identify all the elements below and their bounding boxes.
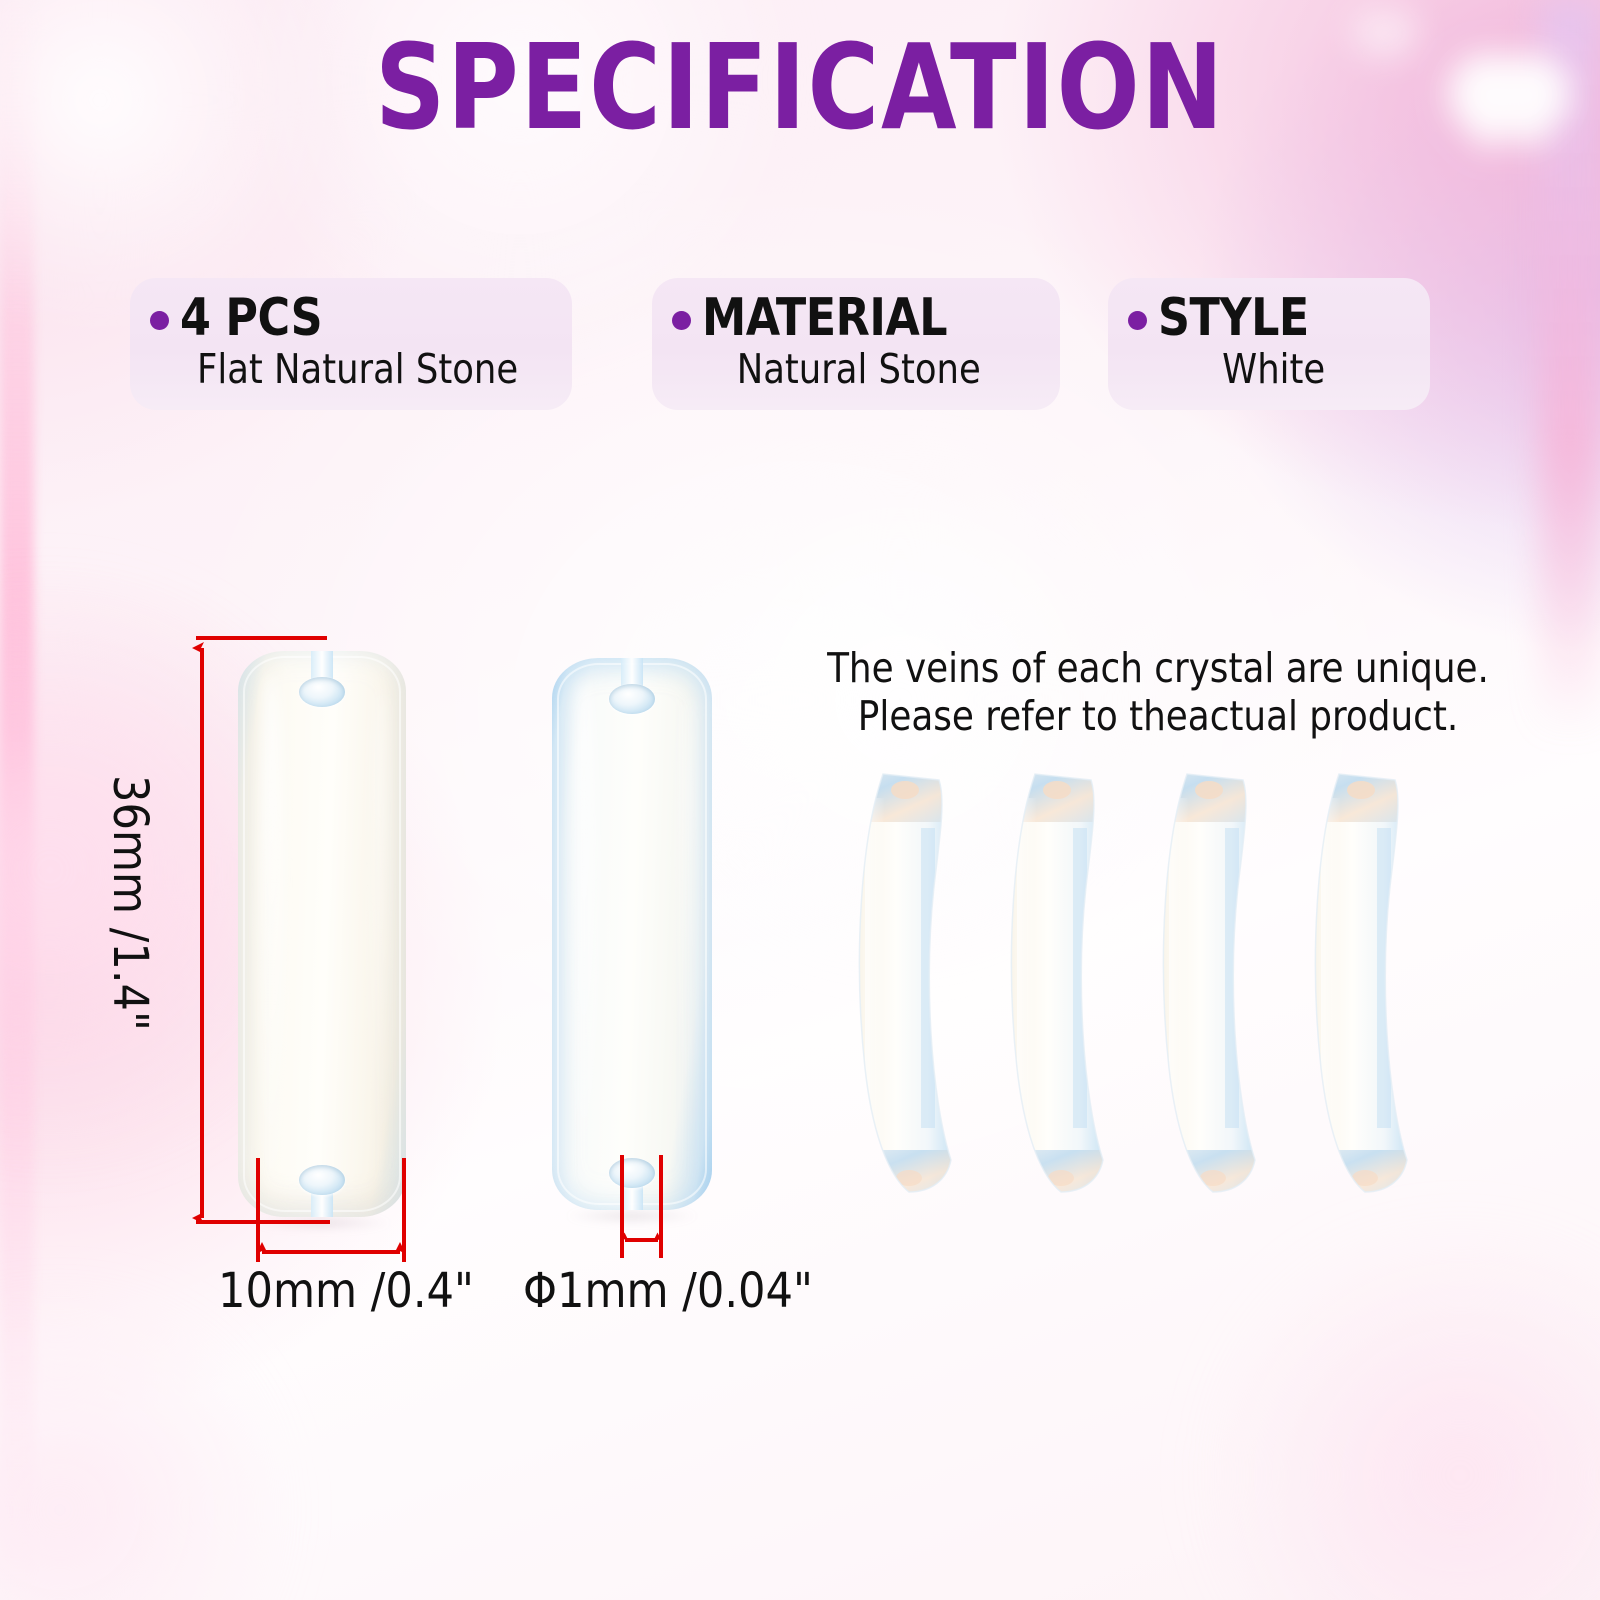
drill-hole-bottom (609, 1158, 655, 1188)
spec-pill-header: STYLE (1128, 292, 1404, 345)
stone-body (552, 658, 712, 1210)
bullet-dot-icon (1128, 311, 1147, 330)
spec-pill-material[interactable]: MATERIAL Natural Stone (652, 278, 1060, 410)
spec-pill-sublabel: Natural Stone (679, 348, 1027, 391)
curved-stone-3 (1147, 768, 1265, 1198)
spec-pill-sublabel: White (1134, 348, 1399, 391)
width-dimension-label: 10mm /0.4" (218, 1263, 474, 1319)
stone-body (238, 651, 406, 1217)
note-line-2: Please refer to theactual product. (819, 693, 1498, 741)
stone-shadow (565, 1208, 699, 1224)
stone-rim (557, 663, 707, 1205)
hole-diameter-dimension-label: Φ1mm /0.04" (523, 1263, 813, 1319)
bullet-dot-icon (150, 311, 169, 330)
drill-hole-bottom (299, 1165, 345, 1195)
curved-stone-2 (995, 768, 1113, 1198)
spec-pill-style[interactable]: STYLE White (1108, 278, 1430, 410)
veins-disclaimer-note: The veins of each crystal are unique. Pl… (808, 645, 1508, 740)
spec-pill-header: 4 PCS (150, 292, 546, 345)
flat-stone-back (552, 658, 712, 1210)
flat-stone-front (238, 651, 406, 1217)
page-title: SPECIFICATION (64, 28, 1536, 146)
curved-stone-1 (843, 768, 961, 1198)
bullet-dot-icon (672, 311, 691, 330)
spec-pill-quantity[interactable]: 4 PCS Flat Natural Stone (130, 278, 572, 410)
spec-pill-label: 4 PCS (180, 292, 322, 345)
spec-pill-header: MATERIAL (672, 292, 1034, 345)
spec-pill-label: STYLE (1158, 292, 1309, 345)
stone-shadow (251, 1215, 392, 1231)
drill-hole-top (299, 677, 345, 707)
spec-pill-label: MATERIAL (702, 292, 947, 345)
spec-pill-sublabel: Flat Natural Stone (158, 348, 538, 391)
note-line-1: The veins of each crystal are unique. (819, 645, 1498, 693)
curved-stone-4 (1299, 768, 1417, 1198)
drill-hole-top (609, 684, 655, 714)
height-dimension-label: 36mm /1.4" (102, 775, 158, 1031)
spec-pill-row: 4 PCS Flat Natural Stone MATERIAL Natura… (130, 278, 1430, 410)
stone-rim (243, 656, 401, 1212)
